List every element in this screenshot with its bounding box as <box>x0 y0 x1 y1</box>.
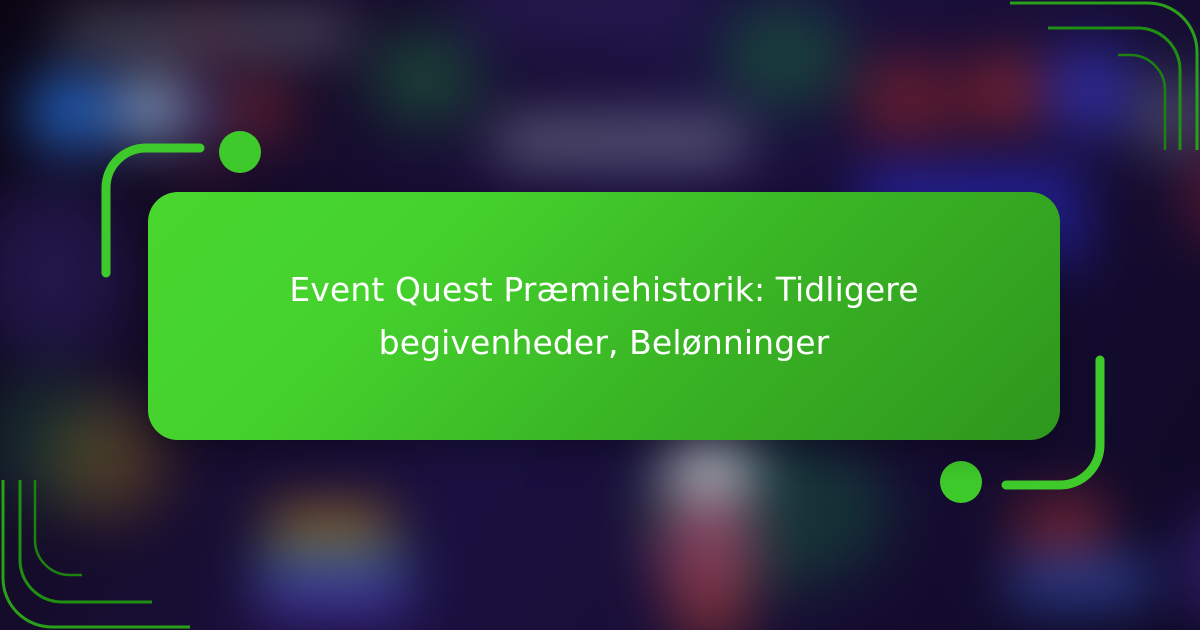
page-title: Event Quest Præmiehistorik: Tidligere be… <box>230 263 978 370</box>
background-bottom-red-1 <box>1020 500 1054 552</box>
background-defeated-text <box>495 120 745 162</box>
accent-dot-bottom-right <box>940 461 982 503</box>
background-bottom-blue <box>1010 560 1150 602</box>
accent-dot-top-left <box>219 131 261 173</box>
background-bottom-red-2 <box>1065 495 1099 553</box>
background-cyan-block <box>260 548 405 578</box>
background-orange-block <box>270 510 390 546</box>
social-card-banner: Event Quest Præmiehistorik: Tidligere be… <box>0 0 1200 630</box>
background-red-circle <box>970 55 1042 127</box>
background-icon-white <box>120 75 184 139</box>
background-vertical-strip <box>195 0 217 210</box>
background-red-bar-1 <box>865 60 891 140</box>
background-foliage-2 <box>720 0 850 110</box>
background-purple-block <box>258 576 408 614</box>
background-red-bar-3 <box>935 65 961 139</box>
background-blue-glow-1 <box>1045 45 1135 135</box>
background-red-bar-2 <box>900 55 926 141</box>
background-center-panel <box>460 0 700 45</box>
title-card: Event Quest Præmiehistorik: Tidligere be… <box>148 192 1060 440</box>
